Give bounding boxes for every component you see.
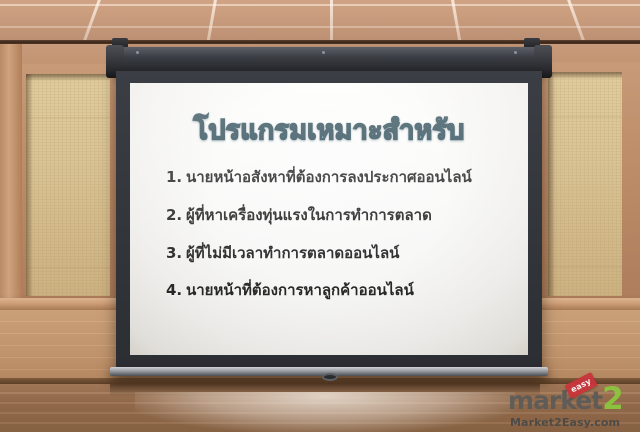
list-item-number: 1. [166, 168, 186, 187]
slide-content: โปรแกรมเหมาะสำหรับ 1. นายหน้าอสังหาที่ต้… [130, 83, 528, 355]
screen-frame: โปรแกรมเหมาะสำหรับ 1. นายหน้าอสังหาที่ต้… [116, 71, 542, 369]
screen-surface: โปรแกรมเหมาะสำหรับ 1. นายหน้าอสังหาที่ต้… [130, 83, 528, 355]
floor-reflection [135, 392, 515, 432]
room-scene: โปรแกรมเหมาะสำหรับ 1. นายหน้าอสังหาที่ต้… [0, 0, 640, 432]
list-item-text: นายหน้าที่ต้องการหาลูกค้าออนไลน์ [186, 281, 514, 300]
list-item-number: 4. [166, 281, 186, 300]
watermark-brand-second: 2 [602, 381, 623, 417]
projection-screen: โปรแกรมเหมาะสำหรับ 1. นายหน้าอสังหาที่ต้… [106, 45, 552, 385]
list-item: 1. นายหน้าอสังหาที่ต้องการลงประกาศออนไลน… [166, 168, 514, 187]
list-item-number: 2. [166, 206, 186, 225]
list-item-text: นายหน้าอสังหาที่ต้องการลงประกาศออนไลน์ [186, 168, 514, 187]
list-item-number: 3. [166, 244, 186, 263]
list-item-text: ผู้ที่ไม่มีเวลาทำการตลาดออนไลน์ [186, 244, 514, 263]
left-pilaster [0, 44, 22, 304]
slide-title: โปรแกรมเหมาะสำหรับ [144, 115, 514, 146]
ceiling [0, 0, 640, 42]
list-item: 2. ผู้ที่หาเครื่องทุ่นแรงในการทำการตลาด [166, 206, 514, 225]
slide-bullet-list: 1. นายหน้าอสังหาที่ต้องการลงประกาศออนไลน… [144, 168, 514, 300]
left-cork-panel [26, 74, 110, 296]
list-item: 4. นายหน้าที่ต้องการหาลูกค้าออนไลน์ [166, 281, 514, 300]
list-item: 3. ผู้ที่ไม่มีเวลาทำการตลาดออนไลน์ [166, 244, 514, 263]
screen-pull-handle[interactable] [322, 373, 338, 381]
list-item-text: ผู้ที่หาเครื่องทุ่นแรงในการทำการตลาด [186, 206, 514, 225]
right-cork-panel [548, 72, 622, 296]
watermark-logo: market2 easy Market2Easy.com [508, 380, 636, 430]
watermark-url: Market2Easy.com [510, 416, 620, 429]
